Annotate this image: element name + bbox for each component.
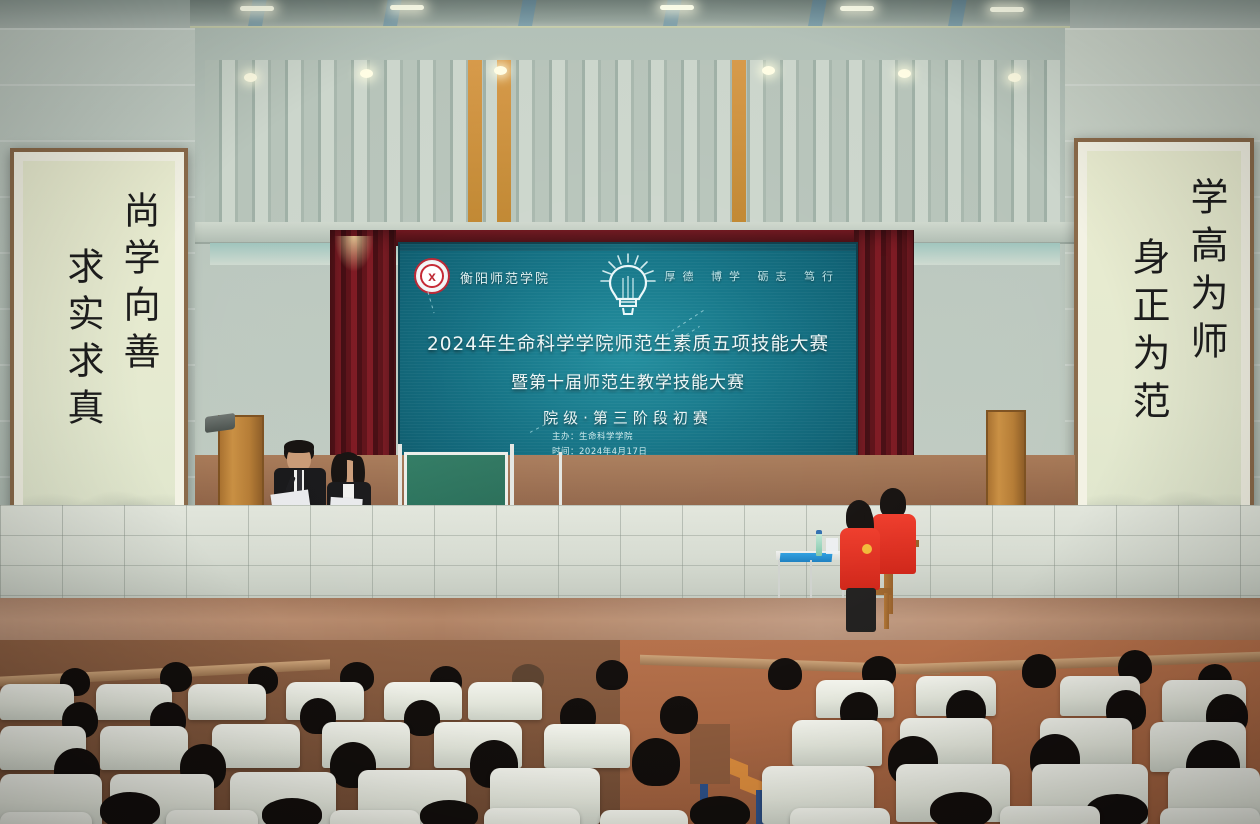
volunteer-red-vest-1 — [840, 500, 886, 630]
audience-head — [930, 792, 992, 824]
screen-top-bezel — [400, 244, 856, 251]
event-title-block: 2024年生命科学学院师范生素质五项技能大赛 暨第十届师范生教学技能大赛 院级·… — [400, 330, 856, 428]
seat-cover — [792, 720, 882, 766]
judges-table — [776, 551, 846, 597]
proscenium-ribbed-panel — [205, 60, 1060, 225]
audience-head — [632, 738, 680, 786]
university-emblem-icon: x — [414, 258, 450, 294]
stage-front-wall — [0, 505, 1260, 600]
audience-head — [596, 660, 628, 690]
seat-cover — [330, 810, 420, 824]
seat-cover — [166, 810, 258, 824]
ceiling-light — [660, 5, 694, 10]
water-bottle[interactable] — [816, 534, 822, 556]
audience-head — [660, 696, 698, 734]
bench-seat — [690, 724, 730, 784]
scroll-right-column-1: 学高为师 — [1187, 177, 1225, 369]
seat-cover — [100, 726, 188, 770]
seat-cover — [1160, 808, 1260, 824]
accent-wood-strip — [468, 60, 482, 222]
downlight — [1008, 73, 1021, 82]
event-meta-organizer: 主办：生命科学学院 — [552, 430, 647, 445]
seat-cover — [188, 684, 266, 720]
audience-head — [420, 800, 478, 824]
scroll-right-column-2: 身正为范 — [1129, 237, 1167, 429]
audience-head — [100, 792, 160, 824]
event-title-line1: 2024年生命科学学院师范生素质五项技能大赛 — [400, 330, 856, 356]
accent-wood-strip — [732, 60, 746, 222]
downlight — [494, 66, 507, 75]
vest-logo — [862, 544, 872, 554]
paper-stack — [826, 538, 838, 554]
accent-wood-strip — [497, 60, 511, 222]
lightbulb-icon — [596, 252, 660, 324]
seat-cover — [544, 724, 630, 768]
downlight — [360, 69, 373, 78]
ceiling-light — [990, 7, 1024, 12]
curtain-highlight — [334, 236, 374, 272]
audience-head — [262, 798, 322, 824]
university-motto-text: 厚德 博学 砺志 笃行 — [665, 268, 841, 284]
audience-head — [768, 658, 802, 690]
ceiling-light — [240, 6, 274, 11]
seat-cover — [790, 808, 890, 824]
audience-head — [690, 796, 750, 824]
ceiling-light — [390, 5, 424, 10]
audience-head — [1022, 654, 1056, 688]
seat-cover — [600, 810, 688, 824]
event-title-line3: 院级·第三阶段初赛 — [400, 407, 856, 428]
auditorium-scene: x 衡阳师范学院 厚德 博学 砺志 笃行 — [0, 0, 1260, 824]
seat-cover — [484, 808, 580, 824]
table-cloth — [780, 553, 833, 562]
event-title-line2: 暨第十届师范生教学技能大赛 — [400, 368, 856, 393]
university-name-text: 衡阳师范学院 — [460, 268, 550, 287]
decorative-dotted-line — [427, 292, 434, 313]
seated-audience — [0, 640, 1260, 824]
downlight — [898, 69, 911, 78]
bottle-cap — [816, 530, 822, 534]
scroll-left-column-2: 求实求真 — [64, 247, 101, 435]
downlight — [244, 73, 257, 82]
emblem-inner-glyph: x — [420, 264, 444, 288]
downlight — [762, 66, 775, 75]
scroll-left-column-1: 尚学向善 — [120, 191, 157, 379]
seat-cover — [0, 812, 92, 824]
seat-cover — [468, 682, 542, 720]
seat-cover — [1000, 806, 1100, 824]
ceiling-light — [840, 6, 874, 11]
